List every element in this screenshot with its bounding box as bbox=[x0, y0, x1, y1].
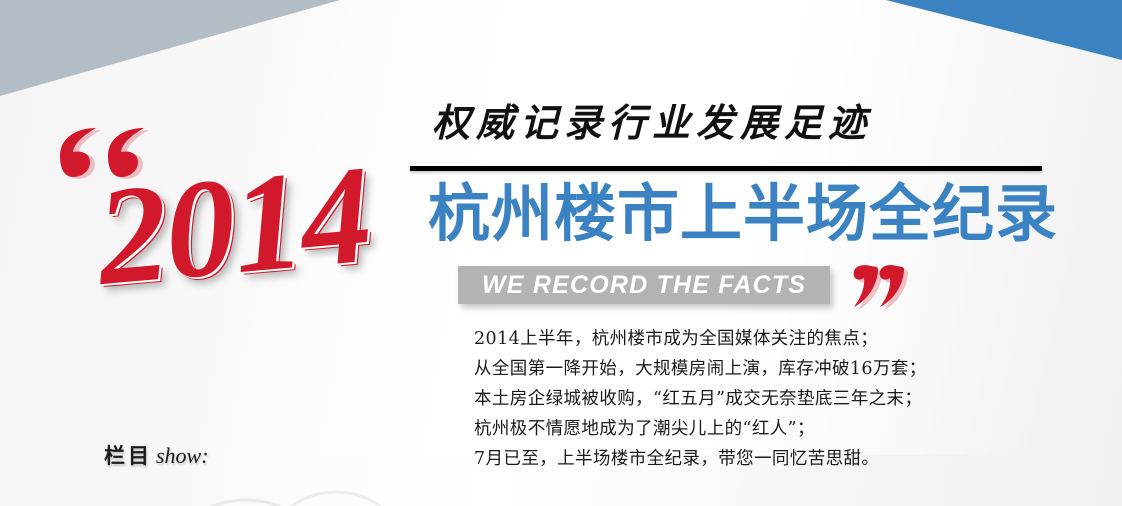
body-line: 从全国第一降开始，大规模房闹上演，库存冲破16万套； bbox=[474, 354, 927, 384]
body-copy: 2014上半年，杭州楼市成为全国媒体关注的焦点； 从全国第一降开始，大规模房闹上… bbox=[474, 324, 927, 474]
body-line: 2014上半年，杭州楼市成为全国媒体关注的焦点； bbox=[474, 324, 927, 354]
promo-banner: 2014 栏目show: 权威记录行业发展足迹 杭州楼市上半场全纪录 WE RE… bbox=[0, 0, 1122, 506]
year-2014-display: 2014 bbox=[92, 145, 375, 308]
page-title: 杭州楼市上半场全纪录 bbox=[428, 182, 1058, 245]
body-line: 本土房企绿城被收购，“红五月”成交无奈垫底三年之末； bbox=[474, 384, 927, 414]
quote-close-icon bbox=[852, 266, 914, 310]
tagline-bar: WE RECORD THE FACTS bbox=[458, 266, 830, 304]
tagline-text: WE RECORD THE FACTS bbox=[482, 271, 806, 300]
body-line: 7月已至，上半场楼市全纪录，带您一同忆苦思甜。 bbox=[474, 444, 927, 474]
horizontal-rule-divider bbox=[410, 166, 1042, 171]
subtitle-text: 权威记录行业发展足迹 bbox=[432, 104, 872, 142]
show-label-en: show: bbox=[156, 443, 209, 468]
body-line: 杭州极不情愿地成为了潮尖儿上的“红人”； bbox=[474, 414, 927, 444]
show-label: 栏目show: bbox=[104, 440, 209, 470]
show-label-cn: 栏目 bbox=[104, 443, 152, 468]
